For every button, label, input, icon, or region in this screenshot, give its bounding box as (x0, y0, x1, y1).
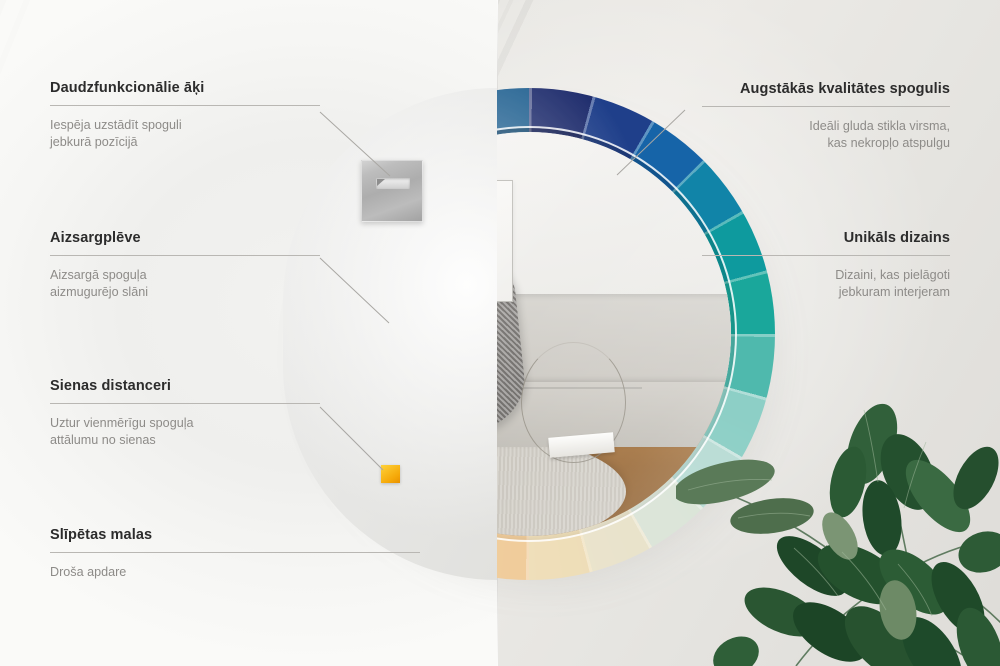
callout-wall-spacers-desc: Uztur vienmērīgu spoguļa attālumu no sie… (50, 415, 320, 450)
callout-polished-edges-title: Slīpētas malas (50, 527, 420, 543)
callout-polished-edges: Slīpētas malas Droša apdare (50, 527, 420, 581)
callout-hooks-rule (50, 105, 320, 106)
callout-hooks-title: Daudzfunkcionālie āķi (50, 80, 320, 96)
product-feature-graphic: Daudzfunkcionālie āķi Iespēja uzstādīt s… (0, 0, 1000, 666)
callout-premium-mirror: Augstākās kvalitātes spogulis Ideāli glu… (702, 81, 950, 153)
decorative-plant (676, 366, 1000, 666)
callout-premium-mirror-desc: Ideāli gluda stikla virsma, kas nekropļo… (702, 118, 950, 153)
callout-protective-film-rule (50, 255, 320, 256)
callout-polished-edges-rule (50, 552, 420, 553)
callout-unique-design-title: Unikāls dizains (702, 230, 950, 246)
callout-hooks-desc: Iespēja uzstādīt spoguli jebkurā pozīcij… (50, 117, 320, 152)
eucalyptus-branches-icon (676, 366, 1000, 666)
callout-protective-film-desc: Aizsargā spoguļa aizmugurējo slāni (50, 267, 320, 302)
callout-unique-design: Unikāls dizains Dizaini, kas pielāgoti j… (702, 230, 950, 302)
leader-premium-mirror (617, 110, 685, 175)
callout-protective-film: Aizsargplēve Aizsargā spoguļa aizmugurēj… (50, 230, 320, 302)
leader-hooks (320, 112, 390, 176)
callout-premium-mirror-rule (702, 106, 950, 107)
callout-protective-film-title: Aizsargplēve (50, 230, 320, 246)
callout-wall-spacers: Sienas distanceri Uztur vienmērīgu spogu… (50, 378, 320, 450)
callout-wall-spacers-title: Sienas distanceri (50, 378, 320, 394)
callout-premium-mirror-title: Augstākās kvalitātes spogulis (702, 81, 950, 97)
callout-polished-edges-desc: Droša apdare (50, 564, 420, 581)
leader-protective-film (320, 258, 389, 323)
callout-unique-design-rule (702, 255, 950, 256)
callout-hooks: Daudzfunkcionālie āķi Iespēja uzstādīt s… (50, 80, 320, 152)
callout-unique-design-desc: Dizaini, kas pielāgoti jebkuram interjer… (702, 267, 950, 302)
leader-wall-spacers (320, 407, 383, 470)
callout-wall-spacers-rule (50, 403, 320, 404)
